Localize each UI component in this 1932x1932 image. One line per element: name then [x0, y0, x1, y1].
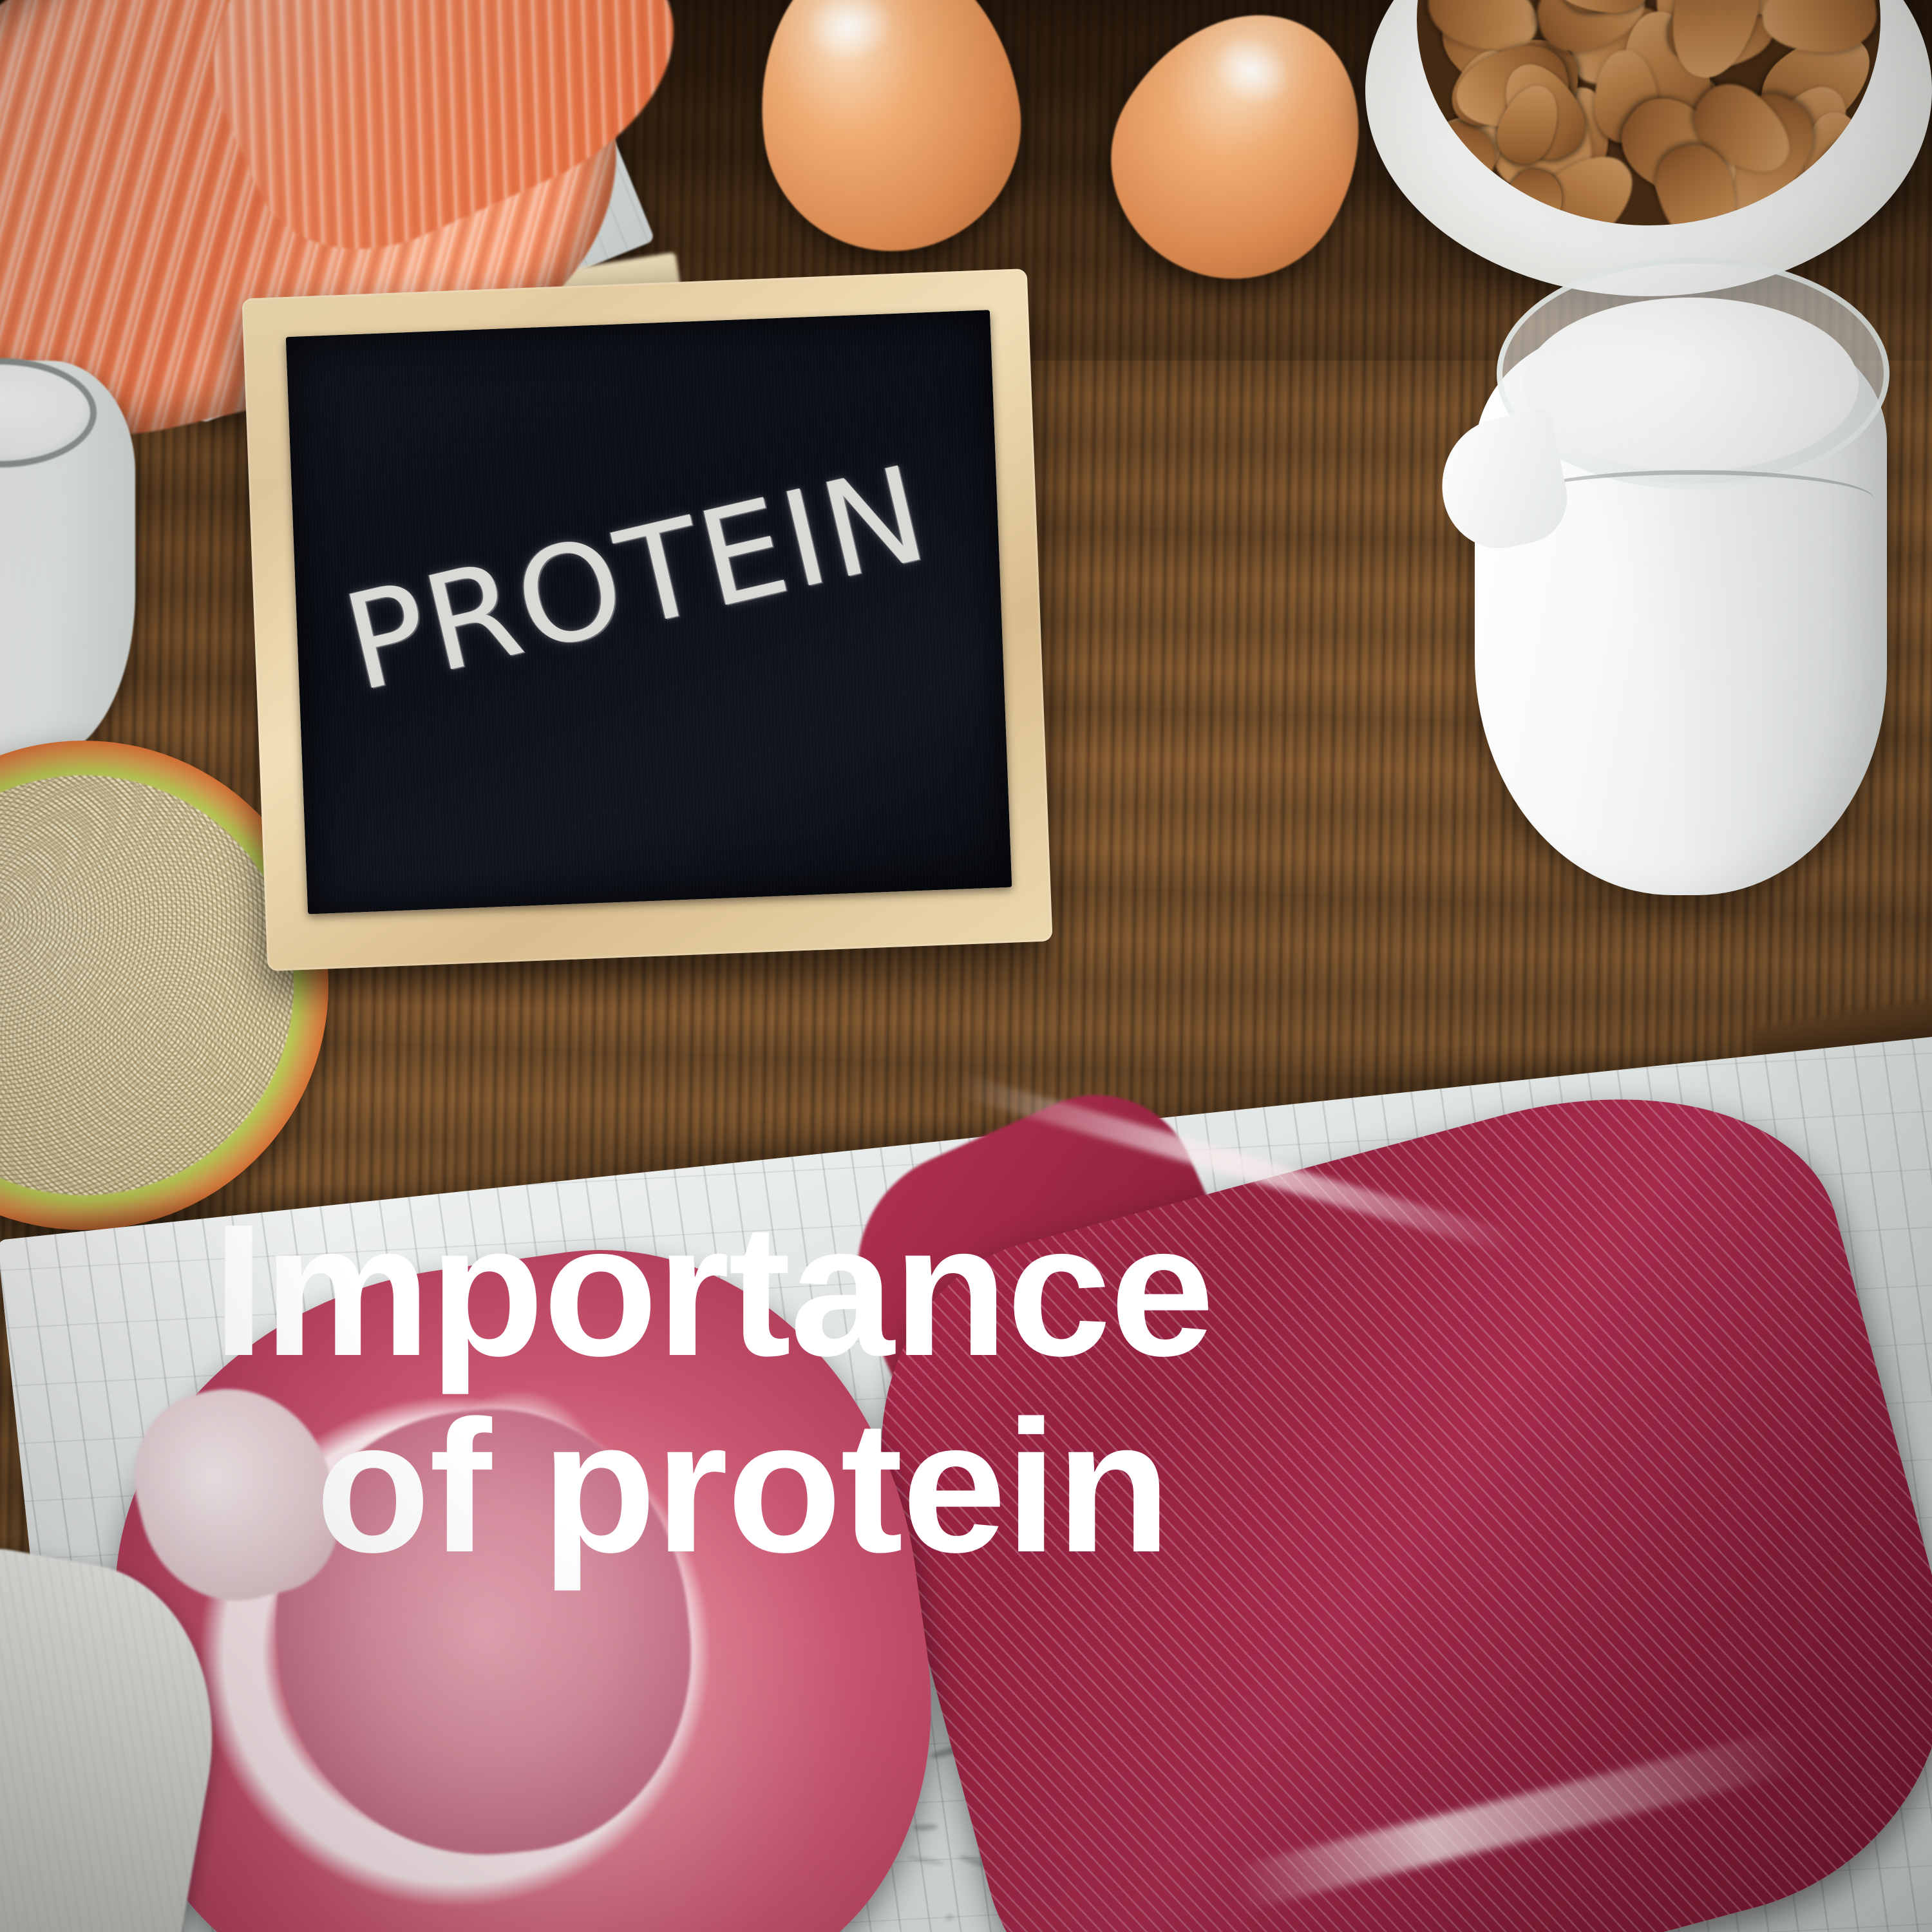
protein-poster: PROTEIN Importance of protein: [0, 0, 1932, 1932]
chalkboard-sign: PROTEIN: [241, 269, 1052, 971]
egg-highlight: [801, 0, 898, 68]
board-scuff-mark: [907, 1854, 945, 1867]
pitcher-rim: [1513, 470, 1874, 528]
chalkboard-text: PROTEIN: [332, 437, 942, 721]
egg-highlight: [1201, 23, 1303, 119]
board-scuff-mark: [945, 1914, 954, 1922]
almond-pile: [1417, 0, 1880, 225]
milk-pitcher-icon: [1475, 258, 1919, 902]
board-scuff-mark: [913, 1824, 938, 1831]
chalkboard-surface: PROTEIN: [286, 310, 1012, 914]
quinoa-grain: [0, 775, 294, 1195]
pitcher-milk-surface: [1524, 298, 1859, 471]
